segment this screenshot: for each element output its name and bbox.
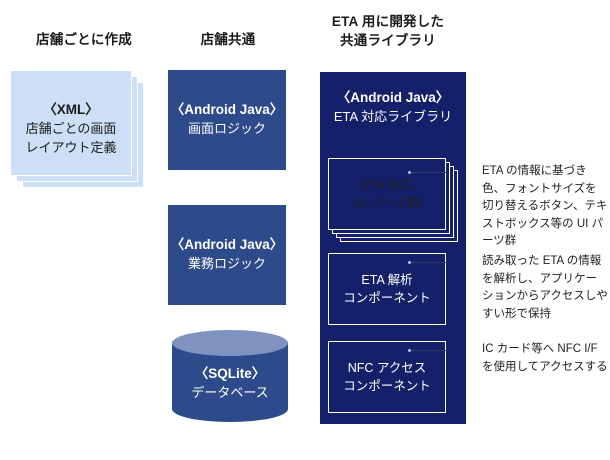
eta-library-panel-labels: 〈Android Java〉 ETA 対応ライブラリ <box>320 88 466 126</box>
xml-card-title: 〈XML〉 <box>10 100 132 119</box>
diagram-canvas: 店舗ごとに作成 店舗共通 ETA 用に開発した 共通ライブラリ 〈XML〉 店舗… <box>0 0 610 460</box>
xml-card-line2: レイアウト定義 <box>10 138 132 157</box>
component-eta-ui-parts-stack[interactable]: ETA 対応 UI パーツ群 <box>328 158 458 242</box>
component-nfc-access-line1: NFC アクセス <box>329 359 445 377</box>
box-android-java-business-logic-subtitle: 業務ロジック <box>168 254 286 273</box>
box-android-java-business-logic-title: 〈Android Java〉 <box>168 235 286 254</box>
column-header-per-store: 店舗ごとに作成 <box>10 30 158 49</box>
component-nfc-access-line2: コンポーネント <box>329 377 445 395</box>
annotation-nfc-access: IC カード等へ NFC I/F を使用してアクセスする <box>482 341 608 376</box>
database-cylinder-sqlite[interactable]: 〈SQLite〉 データベース <box>172 330 288 422</box>
cylinder-top-cap <box>172 330 288 356</box>
component-eta-ui-parts-layer-1: ETA 対応 UI パーツ群 <box>328 158 446 230</box>
xml-card-line1: 店舗ごとの画面 <box>10 119 132 138</box>
column-header-shared: 店舗共通 <box>166 30 290 49</box>
database-cylinder-title: 〈SQLite〉 <box>172 364 288 383</box>
box-android-java-ui-logic-labels: 〈Android Java〉 画面ロジック <box>168 100 286 138</box>
component-eta-ui-parts-line1: ETA 対応 <box>329 176 445 194</box>
component-nfc-access-labels: NFC アクセス コンポーネント <box>329 359 445 395</box>
xml-card-stack[interactable]: 〈XML〉 店舗ごとの画面 レイアウト定義 <box>10 70 144 188</box>
database-cylinder-subtitle: データベース <box>172 383 288 402</box>
component-eta-parser-labels: ETA 解析 コンポーネント <box>329 271 445 307</box>
connector-line-nfc-access <box>412 350 448 352</box>
component-eta-ui-parts-labels: ETA 対応 UI パーツ群 <box>329 176 445 212</box>
database-cylinder-labels: 〈SQLite〉 データベース <box>172 364 288 402</box>
connector-anchor-dot-eta-parser <box>408 261 411 264</box>
box-android-java-ui-logic-subtitle: 画面ロジック <box>168 119 286 138</box>
connector-line-eta-parser <box>412 262 448 264</box>
component-eta-parser-line1: ETA 解析 <box>329 271 445 289</box>
connector-anchor-dot-nfc-access <box>408 349 411 352</box>
component-eta-parser-line2: コンポーネント <box>329 289 445 307</box>
column-header-eta-library-line2: 共通ライブラリ <box>312 31 464 50</box>
eta-library-panel-subtitle: ETA 対応ライブラリ <box>320 107 466 126</box>
component-eta-ui-parts-line2: UI パーツ群 <box>329 194 445 212</box>
box-android-java-business-logic[interactable]: 〈Android Java〉 業務ロジック <box>168 205 286 305</box>
column-header-eta-library: ETA 用に開発した 共通ライブラリ <box>312 12 464 50</box>
box-android-java-business-logic-labels: 〈Android Java〉 業務ロジック <box>168 235 286 273</box>
box-android-java-ui-logic-title: 〈Android Java〉 <box>168 100 286 119</box>
box-android-java-ui-logic[interactable]: 〈Android Java〉 画面ロジック <box>168 70 286 170</box>
connector-line-ui-parts <box>412 172 448 174</box>
xml-card-labels: 〈XML〉 店舗ごとの画面 レイアウト定義 <box>10 100 132 157</box>
annotation-ui-parts: ETA の情報に基づき色、フォントサイズを切り替えるボタン、テキストボックス等の… <box>482 163 608 251</box>
column-header-eta-library-line1: ETA 用に開発した <box>312 12 464 31</box>
eta-library-panel-title: 〈Android Java〉 <box>320 88 466 107</box>
annotation-eta-parser: 読み取った ETA の情報を解析し、アプリケーションからアクセスしやすい形で保持 <box>482 253 608 323</box>
connector-anchor-dot-ui-parts <box>408 171 411 174</box>
